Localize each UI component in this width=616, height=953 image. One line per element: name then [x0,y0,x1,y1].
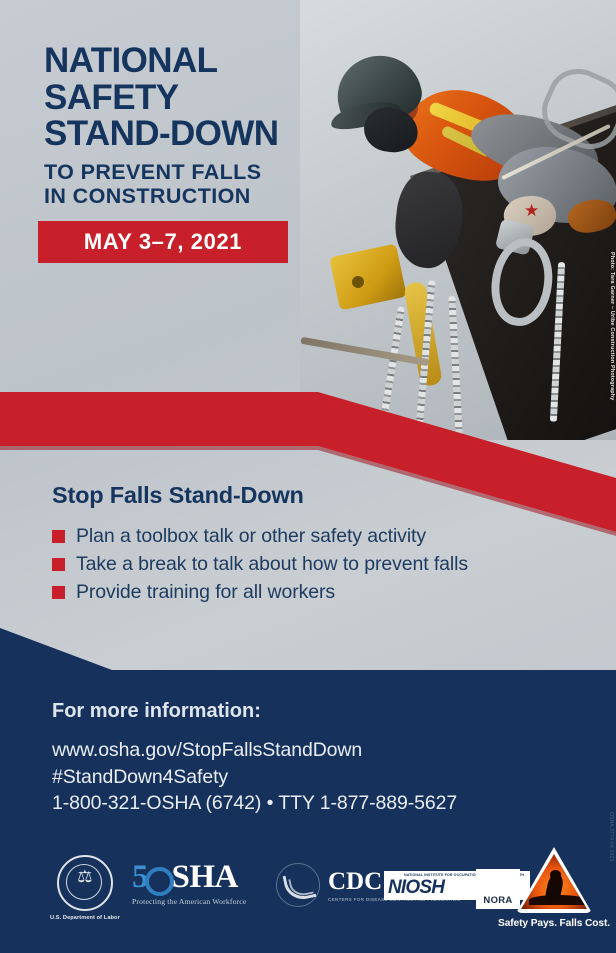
more-information-section: For more information: www.osha.gov/StopF… [52,700,592,817]
section-title: Stop Falls Stand-Down [52,482,592,509]
subhead-line-1: TO PREVENT FALLS [44,160,344,184]
info-heading: For more information: [52,700,592,723]
hashtag: #StandDown4Safety [52,764,592,791]
subhead-line-2: IN CONSTRUCTION [44,184,344,208]
cdc-wordmark: CDC [328,868,382,895]
osha-sha-text: SHA [172,861,238,894]
headline-line-1: NATIONAL [44,44,344,79]
hoist-bolt [352,276,364,288]
worker-silhouette-head [550,870,561,879]
osha-doc-number: OSHA 3774-04 2021 [608,812,614,862]
stand-down-section: Stop Falls Stand-Down Plan a toolbox tal… [52,482,592,610]
safety-pays-label: Safety Pays. Falls Cost. [494,918,614,929]
date-text: MAY 3–7, 2021 [84,229,242,255]
dol-label: U.S. Department of Labor [50,915,120,921]
agency-logo-row: ⚖ U.S. Department of Labor 5 SHA Protect… [44,855,584,933]
osha-wordmark: 5 SHA [132,861,246,894]
square-bullet-icon [52,530,65,543]
list-item: Plan a toolbox talk or other safety acti… [52,525,592,547]
list-item-label: Take a break to talk about how to preven… [76,553,468,575]
square-bullet-icon [52,586,65,599]
list-item: Provide training for all workers [52,581,592,603]
page-title: NATIONAL SAFETY STAND-DOWN TO PREVENT FA… [44,44,344,208]
action-bullet-list: Plan a toolbox talk or other safety acti… [52,525,592,604]
square-bullet-icon [52,558,65,571]
dol-seal-icon: ⚖ [57,855,113,911]
date-banner: MAY 3–7, 2021 [38,221,288,263]
glove-star-icon: ★ [524,202,539,219]
hhs-bird-icon [276,863,320,907]
osha-tagline: Protecting the American Workforce [132,897,246,906]
phone-numbers: 1-800-321-OSHA (6742) • TTY 1-877-889-56… [52,790,592,817]
headline-line-3: STAND-DOWN [44,117,344,152]
list-item-label: Plan a toolbox talk or other safety acti… [76,525,426,547]
safety-poster: ★ Photo: Tara Garner – Uribe Constructio… [0,0,616,953]
dol-eagle-icon: ⚖ [59,868,111,885]
safety-pays-logo: Safety Pays. Falls Cost. [494,847,614,929]
photo-credit: Photo: Tara Garner – Uribe Construction … [609,252,615,400]
website-link[interactable]: www.osha.gov/StopFallsStandDown [52,737,592,764]
list-item-label: Provide training for all workers [76,581,335,603]
osha-logo: 5 SHA Protecting the American Workforce [132,861,246,906]
list-item: Take a break to talk about how to preven… [52,553,592,575]
dol-logo: ⚖ U.S. Department of Labor [50,855,120,921]
triangle-sunset-fill [521,854,587,909]
headline-line-2: SAFETY [44,81,344,116]
construction-worker-photo: ★ Photo: Tara Garner – Uribe Constructio… [300,0,616,440]
osha-50-ring-icon [145,867,174,896]
warning-triangle-icon [516,847,592,913]
